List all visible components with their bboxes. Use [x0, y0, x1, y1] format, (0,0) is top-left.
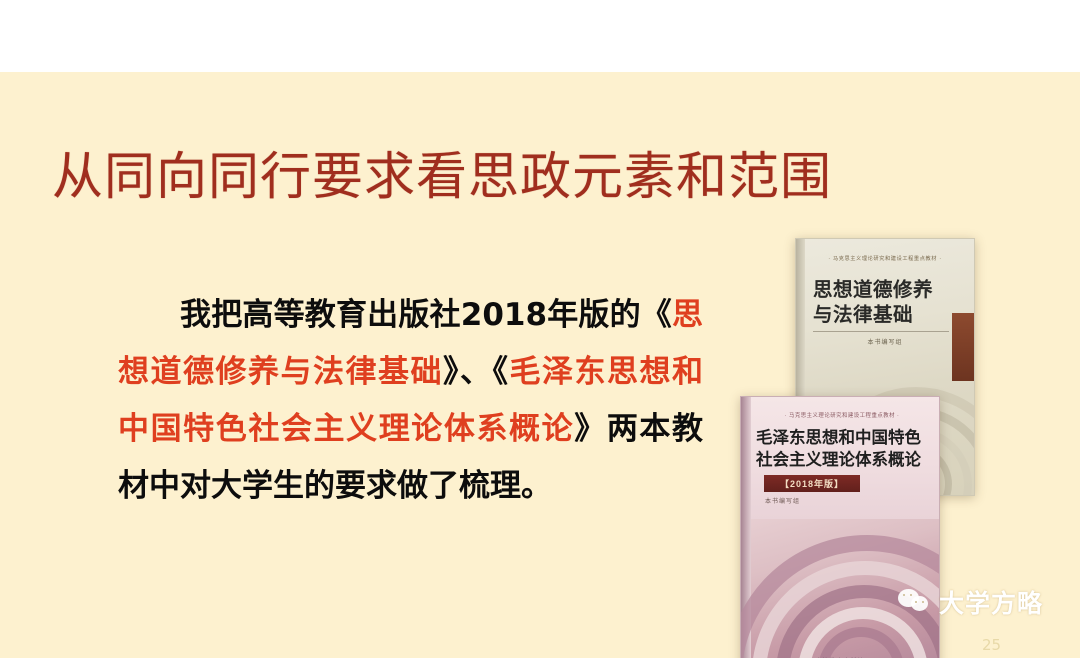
- book2-byline: 本书编写组: [765, 496, 800, 505]
- book1-kicker: · 马克思主义理论研究和建设工程重点教材 ·: [810, 255, 960, 262]
- slide-top-white-band: [0, 0, 1080, 72]
- slide-title: 从同向同行要求看思政元素和范围: [52, 135, 832, 209]
- book2-title: 毛泽东思想和中国特色社会主义理论体系概论: [756, 427, 928, 471]
- channel-watermark: 大学方略: [898, 584, 1043, 620]
- book1-side-tab: [952, 313, 974, 381]
- book1-divider: [813, 331, 949, 332]
- presentation-slide: 从同向同行要求看思政元素和范围 我把高等教育出版社2018年版的《思想道德修养与…: [0, 0, 1080, 658]
- book2-kicker: · 马克思主义理论研究和建设工程重点教材 ·: [755, 411, 929, 419]
- book1-byline: 本书编写组: [796, 337, 974, 346]
- book2-edition-badge: 【2018年版】: [764, 475, 860, 492]
- watermark-label: 大学方略: [939, 584, 1043, 620]
- body-segment-1: 我把高等教育出版社2018年版的《: [180, 297, 672, 333]
- wechat-icon: [898, 588, 932, 616]
- page-number: 25: [982, 636, 1001, 654]
- book1-title: 思想道德修养与法律基础: [813, 277, 947, 327]
- slide-canvas: 从同向同行要求看思政元素和范围 我把高等教育出版社2018年版的《思想道德修养与…: [0, 72, 1080, 658]
- slide-body-paragraph: 我把高等教育出版社2018年版的《思想道德修养与法律基础》、《毛泽东思想和中国特…: [118, 287, 703, 515]
- body-segment-2: 》、《: [443, 354, 510, 390]
